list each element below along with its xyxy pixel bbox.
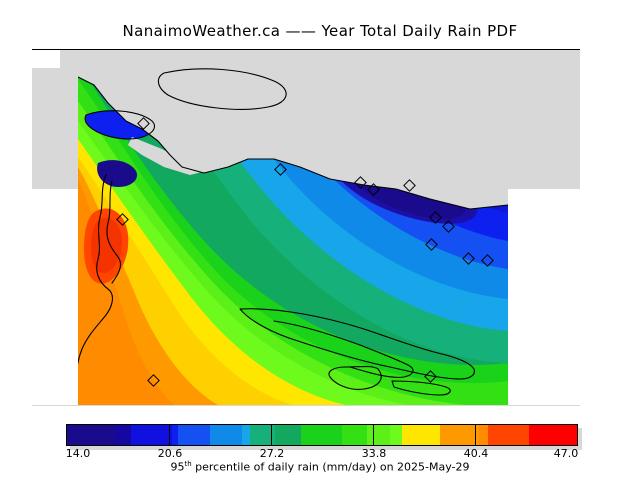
colorbar-tick	[373, 425, 374, 445]
colorbar-tick-label: 20.6	[158, 447, 183, 460]
colorbar-swatch	[479, 425, 489, 445]
caption-percentile-number: 95	[170, 461, 184, 474]
colorbar-swatch	[529, 425, 577, 445]
colorbar-tick	[475, 425, 476, 445]
colorbar-swatch	[342, 425, 367, 445]
colorbar-tick-label: 47.0	[554, 447, 579, 460]
contour-field	[78, 63, 508, 405]
coastline-svg	[78, 63, 508, 405]
colorbar-swatch	[275, 425, 300, 445]
colorbar-swatch	[131, 425, 172, 445]
colorbar-tick-labels: 14.0 20.6 27.2 33.8 40.4 47.0	[0, 447, 640, 461]
colorbar-swatch	[390, 425, 403, 445]
colorbar-tick	[271, 425, 272, 445]
colorbar-swatch	[440, 425, 478, 445]
colorbar-swatch	[115, 425, 131, 445]
colorbar-swatch	[67, 425, 115, 445]
colorbar-caption: 95th percentile of daily rain (mm/day) o…	[0, 460, 640, 474]
colorbar	[66, 424, 578, 446]
chart-title: NanaimoWeather.ca —— Year Total Daily Ra…	[0, 22, 640, 40]
colorbar-swatch	[242, 425, 250, 445]
map-plot-area	[32, 49, 580, 406]
colorbar-swatch	[210, 425, 242, 445]
colorbar-tick-label: 27.2	[260, 447, 285, 460]
colorbar-swatch	[367, 425, 389, 445]
colorbar-swatch	[488, 425, 529, 445]
land-upper-left-notch	[32, 50, 60, 68]
chart-root: NanaimoWeather.ca —— Year Total Daily Ra…	[0, 0, 640, 480]
colorbar-tick	[169, 425, 170, 445]
caption-ordinal-suffix: th	[184, 460, 191, 468]
colorbar-tick-label: 14.0	[66, 447, 91, 460]
caption-rest: percentile of daily rain (mm/day) on 202…	[192, 461, 470, 474]
colorbar-tick-label: 40.4	[464, 447, 489, 460]
colorbar-swatch	[301, 425, 342, 445]
colorbar-swatch	[402, 425, 440, 445]
colorbar-tick-label: 33.8	[362, 447, 387, 460]
colorbar-swatch	[178, 425, 210, 445]
